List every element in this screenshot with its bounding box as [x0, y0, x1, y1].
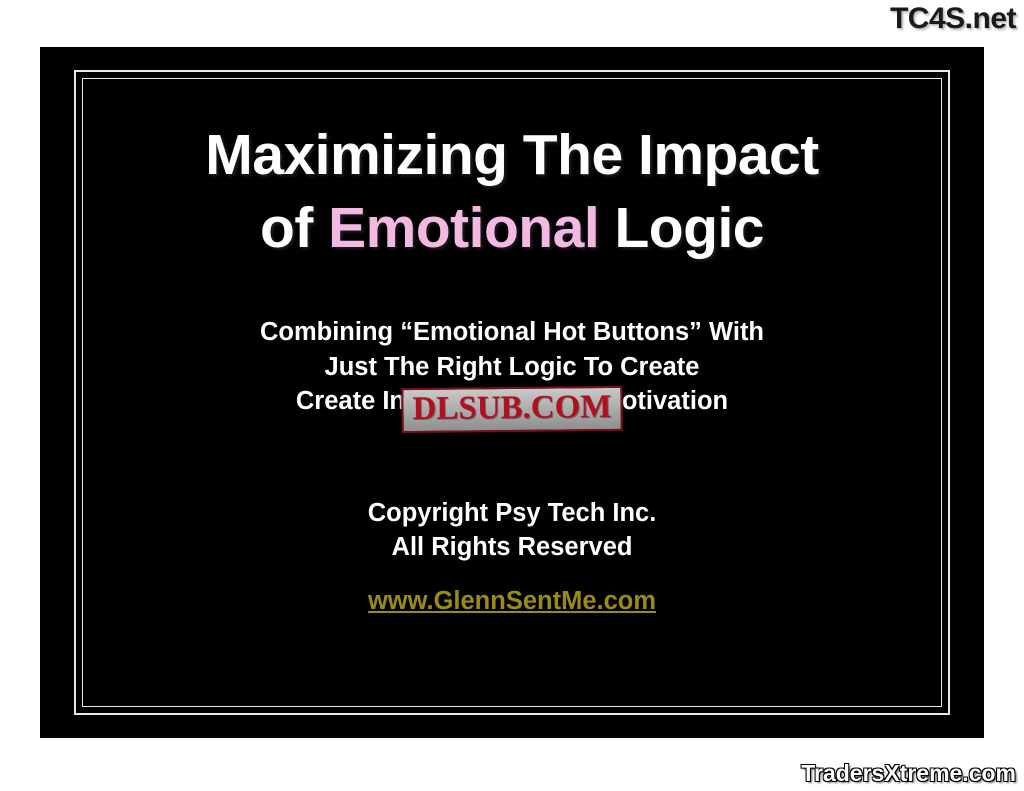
- copyright-line-2: All Rights Reserved: [392, 533, 633, 561]
- watermark-stamp-dlsub: DLSUB.COM: [401, 386, 622, 433]
- title-line-1: Maximizing The Impact: [205, 123, 818, 187]
- copyright-line-1: Copyright Psy Tech Inc.: [368, 499, 657, 527]
- page-title: Maximizing The Impact of Emotional Logic: [40, 47, 984, 265]
- subtitle-line-1: Combining “Emotional Hot Buttons” With: [260, 318, 764, 346]
- website-link[interactable]: www.GlennSentMe.com: [368, 587, 656, 616]
- title-highlight-emotional: Emotional: [328, 196, 599, 260]
- subtitle-line-2: Just The Right Logic To Create: [325, 353, 700, 381]
- slide-canvas: Maximizing The Impact of Emotional Logic…: [40, 47, 984, 738]
- slide-content: Maximizing The Impact of Emotional Logic…: [40, 47, 984, 738]
- copyright-block: Copyright Psy Tech Inc. All Rights Reser…: [40, 419, 984, 565]
- watermark-bottom-right: TradersXtreme.com: [801, 760, 1016, 787]
- title-line-2-prefix: of: [260, 196, 328, 260]
- watermark-top-right: TC4S.net: [890, 2, 1016, 36]
- title-line-2-suffix: Logic: [599, 196, 764, 260]
